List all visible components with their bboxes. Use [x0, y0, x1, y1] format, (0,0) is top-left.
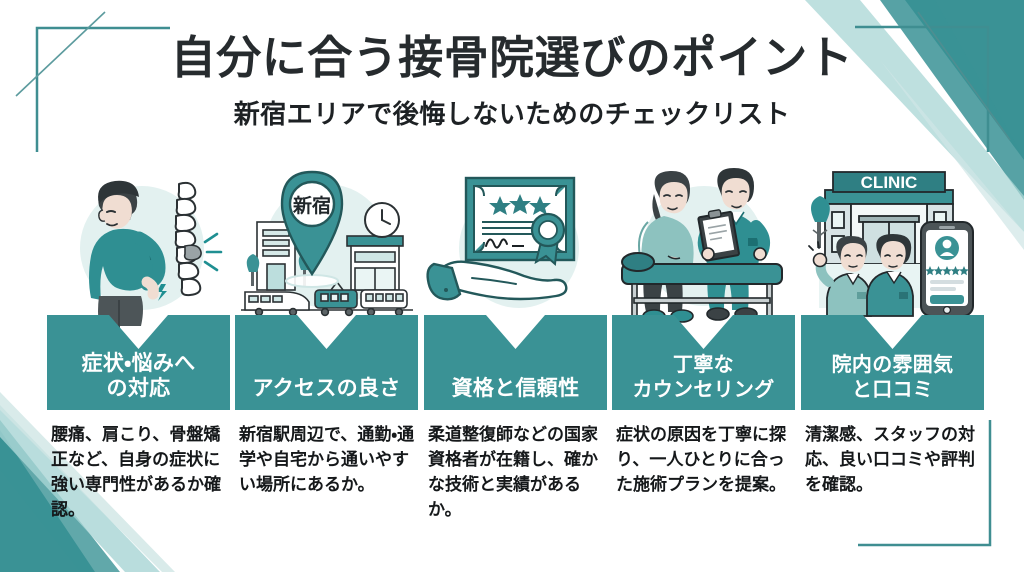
banner-label-symptoms: 症状・悩みへ の対応 [78, 351, 200, 410]
clinic-building-review-icon: CLINIC [801, 160, 984, 332]
column-atmosphere: CLINIC [801, 160, 984, 572]
checklist-columns: 症状・悩みへ の対応 腰痛、肩こり、骨盤矯正など、自身の症状に強い専門性があるか… [0, 160, 1024, 572]
page-subtitle: 新宿エリアで後悔しないためのチェックリスト [0, 100, 1024, 129]
banner-label-counseling: 丁寧な カウンセリング [628, 353, 778, 410]
column-access: 新宿 アクセスの良さ 新宿駅周辺で、通勤・通学や自宅から通いやすい場所にあるか。 [235, 160, 418, 572]
column-certification: 資格と信頼性 柔道整復師などの国家資格者が在籍し、確かな技術と実績があるか。 [424, 160, 607, 572]
clinic-sign-label: CLINIC [861, 173, 918, 192]
certificate-hand-icon [424, 160, 607, 332]
column-counseling: 丁寧な カウンセリング 症状の原因を丁寧に探り、一人ひとりに合った施術プランを提… [612, 160, 795, 572]
column-symptoms: 症状・悩みへ の対応 腰痛、肩こり、骨盤矯正など、自身の症状に強い専門性があるか… [47, 160, 230, 572]
infographic-canvas: 自分に合う接骨院選びのポイント 新宿エリアで後悔しないためのチェックリスト [0, 0, 1024, 572]
body-text-access: 新宿駅周辺で、通勤・通学や自宅から通いやすい場所にあるか。 [239, 422, 419, 497]
back-pain-spine-icon [47, 160, 230, 332]
map-pin-label: 新宿 [292, 194, 331, 217]
banner-label-certification: 資格と信頼性 [448, 376, 584, 410]
counseling-clipboard-icon [612, 160, 795, 332]
body-text-counseling: 症状の原因を丁寧に探り、一人ひとりに合った施術プランを提案。 [616, 422, 796, 497]
body-text-atmosphere: 清潔感、スタッフの対応、良い口コミや評判を確認。 [805, 422, 985, 497]
banner-label-access: アクセスの良さ [248, 376, 404, 410]
body-text-certification: 柔道整復師などの国家資格者が在籍し、確かな技術と実績があるか。 [428, 422, 608, 523]
map-pin-station-icon: 新宿 [235, 160, 418, 332]
body-text-symptoms: 腰痛、肩こり、骨盤矯正など、自身の症状に強い専門性があるか確認。 [51, 422, 231, 523]
page-title: 自分に合う接骨院選びのポイント [0, 34, 1024, 81]
banner-label-atmosphere: 院内の雰囲気 と口コミ [828, 353, 958, 410]
header: 自分に合う接骨院選びのポイント 新宿エリアで後悔しないためのチェックリスト [0, 0, 1024, 160]
